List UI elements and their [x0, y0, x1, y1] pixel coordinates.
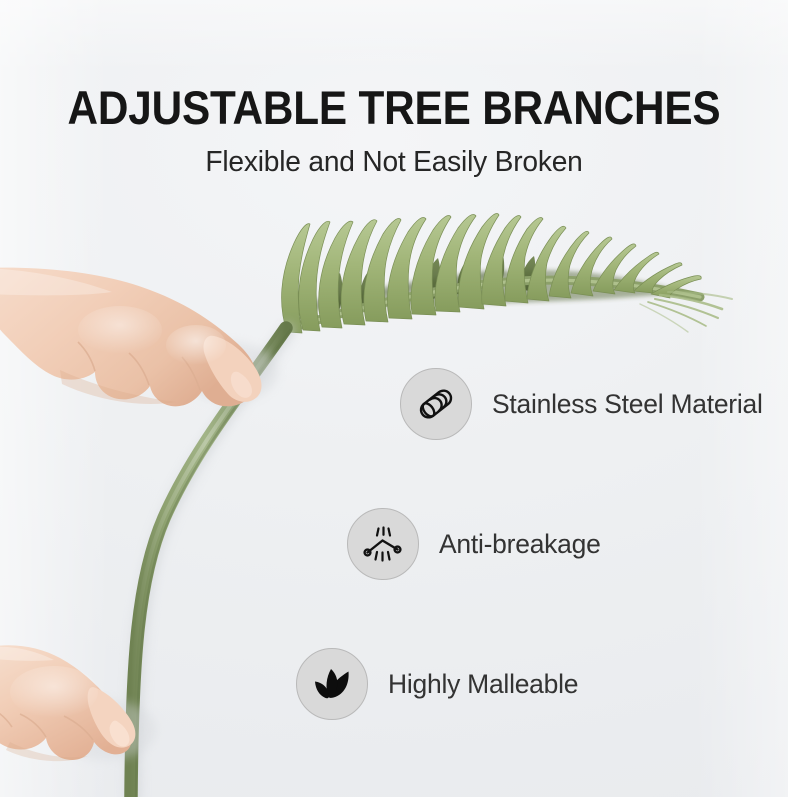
- feature-item-anti-breakage[interactable]: Anti-breakage: [347, 508, 604, 580]
- frond-leaflets: [282, 214, 702, 334]
- frond-tip-strands: [640, 292, 732, 332]
- feature-icon-badge: [347, 508, 419, 580]
- steel-rod-icon: [413, 381, 459, 427]
- feature-label: Stainless Steel Material: [492, 388, 763, 420]
- feature-item-highly-malleable[interactable]: Highly Malleable: [296, 648, 582, 720]
- feature-icon-badge: [400, 368, 472, 440]
- page-title: ADJUSTABLE TREE BRANCHES: [39, 82, 748, 134]
- hand-upper: [0, 268, 278, 407]
- feature-item-stainless-steel[interactable]: Stainless Steel Material: [400, 368, 768, 440]
- feature-label: Anti-breakage: [439, 528, 601, 560]
- feature-icon-badge: [296, 648, 368, 720]
- product-feature-poster: ADJUSTABLE TREE BRANCHES Flexible and No…: [0, 0, 788, 797]
- bent-rod-impact-icon: [360, 521, 406, 567]
- page-subtitle: Flexible and Not Easily Broken: [12, 145, 776, 179]
- feature-label: Highly Malleable: [388, 668, 578, 700]
- leaves-icon: [311, 663, 353, 705]
- header: ADJUSTABLE TREE BRANCHES Flexible and No…: [0, 82, 788, 179]
